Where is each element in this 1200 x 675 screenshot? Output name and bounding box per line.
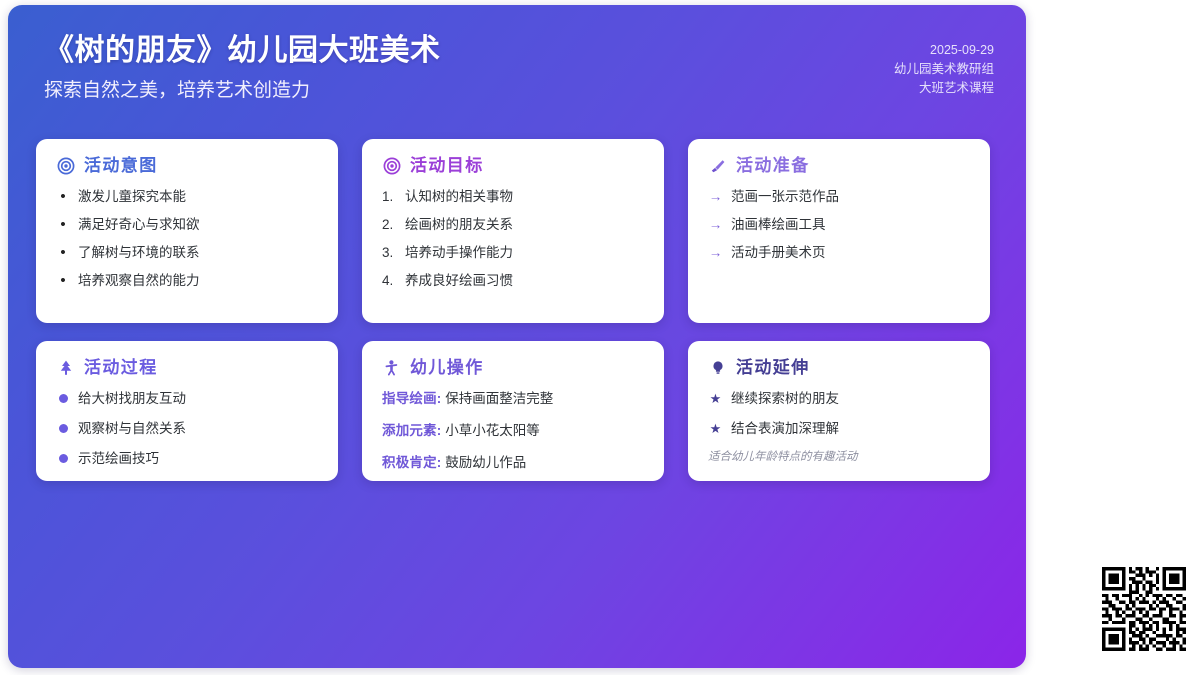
arrow-right-icon: →: [708, 243, 723, 262]
star-icon: ★: [708, 419, 723, 438]
extension-note: 适合幼儿年龄特点的有趣活动: [708, 449, 970, 466]
intent-list: • 激发儿童探究本能 • 满足好奇心与求知欲 • 了解树与环境的联系 • 培养观…: [56, 187, 318, 290]
keyvalue-row: 添加元素: 小草小花太阳等: [382, 421, 644, 440]
child-icon: [382, 359, 401, 378]
list-item-label: 结合表演加深理解: [731, 419, 839, 438]
list-item: 观察树与自然关系: [56, 419, 318, 438]
bullet-icon: •: [56, 215, 70, 234]
circle-bullet-icon: [56, 449, 70, 463]
card-header: 活动延伸: [708, 357, 970, 379]
list-item-label: 绘画树的朋友关系: [405, 215, 513, 234]
list-item: 给大树找朋友互动: [56, 389, 318, 408]
list-item-label: 观察树与自然关系: [78, 419, 186, 438]
keyvalue-key: 积极肯定:: [382, 455, 442, 470]
screenshot-root: 《树的朋友》幼儿园大班美术 探索自然之美，培养艺术创造力 2025-09-29 …: [0, 0, 1200, 675]
list-item-label: 示范绘画技巧: [78, 449, 159, 468]
list-item-label: 给大树找朋友互动: [78, 389, 186, 408]
list-item: 示范绘画技巧: [56, 449, 318, 468]
lightbulb-icon: [708, 359, 727, 378]
keyvalue-value: 鼓励幼儿作品: [445, 455, 526, 470]
card-header: 幼儿操作: [382, 357, 644, 379]
card-title: 幼儿操作: [410, 357, 484, 379]
qr-code: [1102, 567, 1186, 651]
card-activity-process[interactable]: 活动过程 给大树找朋友互动 观察树与自然关系 示范绘画技巧: [36, 341, 338, 481]
list-number: 2.: [382, 215, 397, 234]
bullet-icon: •: [56, 187, 70, 206]
list-item-label: 激发儿童探究本能: [78, 187, 186, 206]
list-number: 3.: [382, 243, 397, 262]
list-number: 1.: [382, 187, 397, 206]
keyvalue-row: 指导绘画: 保持画面整洁完整: [382, 389, 644, 408]
goals-list: 1. 认知树的相关事物 2. 绘画树的朋友关系 3. 培养动手操作能力 4. 养…: [382, 187, 644, 290]
list-item-label: 培养观察自然的能力: [78, 271, 200, 290]
list-item: → 活动手册美术页: [708, 243, 970, 262]
presentation-slide: 《树的朋友》幼儿园大班美术 探索自然之美，培养艺术创造力 2025-09-29 …: [8, 5, 1026, 668]
list-item-label: 培养动手操作能力: [405, 243, 513, 262]
operation-keyvalue-list: 指导绘画: 保持画面整洁完整 添加元素: 小草小花太阳等 积极肯定: 鼓励幼儿作…: [382, 389, 644, 472]
keyvalue-key: 添加元素:: [382, 423, 442, 438]
keyvalue-row: 积极肯定: 鼓励幼儿作品: [382, 453, 644, 472]
card-children-operation[interactable]: 幼儿操作 指导绘画: 保持画面整洁完整 添加元素: 小草小花太阳等 积极肯定: …: [362, 341, 664, 481]
list-item-label: 认知树的相关事物: [405, 187, 513, 206]
card-title: 活动延伸: [736, 357, 810, 379]
target-icon: [56, 157, 75, 176]
card-title: 活动目标: [410, 155, 484, 177]
card-header: 活动意图: [56, 155, 318, 177]
card-title: 活动准备: [736, 155, 810, 177]
list-item: ★ 继续探索树的朋友: [708, 389, 970, 408]
card-header: 活动过程: [56, 357, 318, 379]
keyvalue-key: 指导绘画:: [382, 391, 442, 406]
arrow-right-icon: →: [708, 187, 723, 206]
slide-header: 《树的朋友》幼儿园大班美术 探索自然之美，培养艺术创造力 2025-09-29 …: [8, 5, 1026, 133]
card-activity-goals[interactable]: 活动目标 1. 认知树的相关事物 2. 绘画树的朋友关系 3. 培养动手操作能力: [362, 139, 664, 323]
list-item: 2. 绘画树的朋友关系: [382, 215, 644, 234]
list-item: • 培养观察自然的能力: [56, 271, 318, 290]
card-activity-extension[interactable]: 活动延伸 ★ 继续探索树的朋友 ★ 结合表演加深理解 适合幼儿年龄特点的有趣活动: [688, 341, 990, 481]
list-item: → 油画棒绘画工具: [708, 215, 970, 234]
meta-course: 大班艺术课程: [894, 79, 994, 98]
qr-code-image: [1102, 567, 1186, 651]
process-list: 给大树找朋友互动 观察树与自然关系 示范绘画技巧: [56, 389, 318, 468]
meta-date: 2025-09-29: [894, 41, 994, 60]
card-title: 活动过程: [84, 357, 158, 379]
page-title: 《树的朋友》幼儿园大班美术: [44, 31, 441, 71]
list-number: 4.: [382, 271, 397, 290]
arrow-right-icon: →: [708, 215, 723, 234]
list-item: • 激发儿童探究本能: [56, 187, 318, 206]
circle-bullet-icon: [56, 389, 70, 403]
bullet-icon: •: [56, 243, 70, 262]
list-item-label: 满足好奇心与求知欲: [78, 215, 200, 234]
card-title: 活动意图: [84, 155, 158, 177]
keyvalue-value: 保持画面整洁完整: [445, 391, 553, 406]
circle-bullet-icon: [56, 419, 70, 433]
target-icon: [382, 157, 401, 176]
header-meta-block: 2025-09-29 幼儿园美术教研组 大班艺术课程: [894, 41, 994, 98]
bullet-icon: •: [56, 271, 70, 290]
list-item: → 范画一张示范作品: [708, 187, 970, 206]
page-subtitle: 探索自然之美，培养艺术创造力: [44, 77, 441, 105]
paintbrush-icon: [708, 157, 727, 176]
list-item: • 了解树与环境的联系: [56, 243, 318, 262]
card-header: 活动目标: [382, 155, 644, 177]
meta-organization: 幼儿园美术教研组: [894, 60, 994, 79]
list-item-label: 活动手册美术页: [731, 243, 826, 262]
list-item-label: 继续探索树的朋友: [731, 389, 839, 408]
list-item-label: 了解树与环境的联系: [78, 243, 200, 262]
list-item: 3. 培养动手操作能力: [382, 243, 644, 262]
list-item: 1. 认知树的相关事物: [382, 187, 644, 206]
list-item-label: 范画一张示范作品: [731, 187, 839, 206]
card-activity-intent[interactable]: 活动意图 • 激发儿童探究本能 • 满足好奇心与求知欲 • 了解树与环境的联系: [36, 139, 338, 323]
header-title-block: 《树的朋友》幼儿园大班美术 探索自然之美，培养艺术创造力: [44, 31, 441, 105]
preparation-list: → 范画一张示范作品 → 油画棒绘画工具 → 活动手册美术页: [708, 187, 970, 262]
card-grid: 活动意图 • 激发儿童探究本能 • 满足好奇心与求知欲 • 了解树与环境的联系: [36, 139, 998, 481]
tree-icon: [56, 359, 75, 378]
keyvalue-value: 小草小花太阳等: [445, 423, 540, 438]
list-item-label: 油画棒绘画工具: [731, 215, 826, 234]
list-item: ★ 结合表演加深理解: [708, 419, 970, 438]
list-item-label: 养成良好绘画习惯: [405, 271, 513, 290]
list-item: • 满足好奇心与求知欲: [56, 215, 318, 234]
card-header: 活动准备: [708, 155, 970, 177]
extension-list: ★ 继续探索树的朋友 ★ 结合表演加深理解: [708, 389, 970, 438]
list-item: 4. 养成良好绘画习惯: [382, 271, 644, 290]
card-activity-preparation[interactable]: 活动准备 → 范画一张示范作品 → 油画棒绘画工具 → 活动手册美术页: [688, 139, 990, 323]
star-icon: ★: [708, 389, 723, 408]
